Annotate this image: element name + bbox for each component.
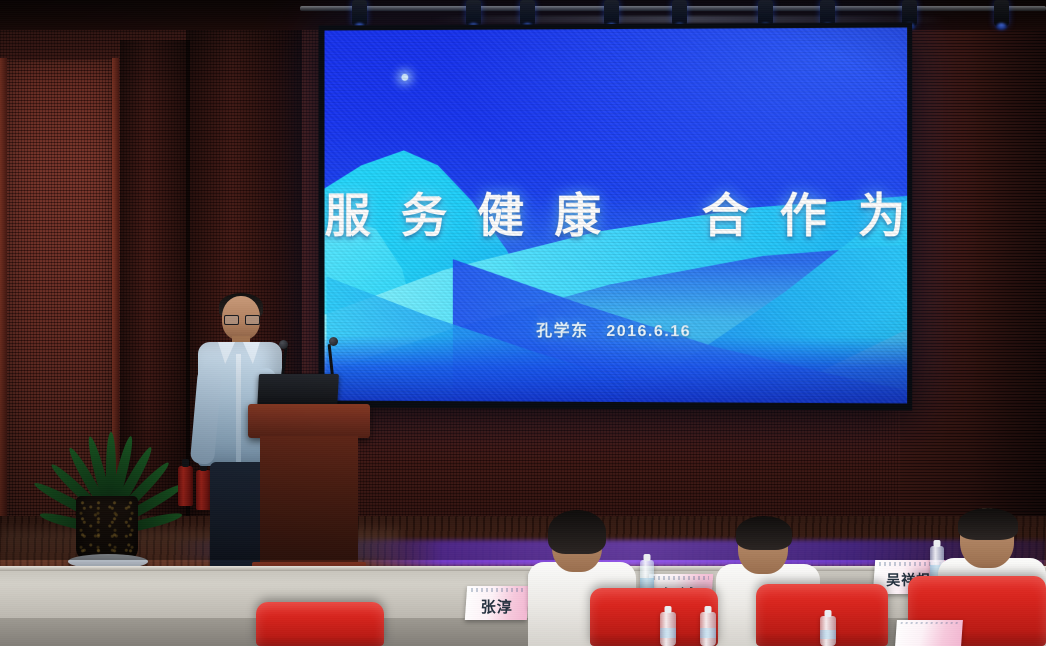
glasses-icon — [224, 315, 258, 323]
water-bottle — [820, 616, 836, 646]
fire-extinguisher — [178, 466, 193, 506]
audience-member-hair — [736, 516, 792, 550]
conference-photo-scene: 服 务 健 康 合 作 为 王 孔学东 2016.6.16 — [0, 0, 1046, 646]
stage-spotlight — [466, 0, 481, 27]
stage-spotlight — [994, 0, 1009, 27]
name-card-subline — [901, 622, 959, 625]
desk-front-panel — [0, 618, 1046, 646]
plant-pot-pattern — [79, 499, 135, 559]
presenter-shirt-placket — [236, 354, 241, 462]
right-wall-texture — [900, 0, 1046, 560]
screen-scanlines — [325, 27, 908, 403]
plant-pot — [76, 496, 138, 562]
microphone-head — [329, 337, 338, 346]
name-card-subline — [653, 576, 709, 579]
screen-display-area: 服 务 健 康 合 作 为 王 孔学东 2016.6.16 — [325, 27, 908, 403]
audience-seat — [590, 588, 718, 646]
stage-spotlight — [352, 0, 367, 27]
audience-seat — [256, 602, 384, 646]
left-panel-edge — [0, 58, 7, 532]
stage-spotlight — [520, 0, 535, 27]
audience-member-hair — [548, 510, 606, 554]
name-card: 张淳 — [465, 586, 529, 620]
name-card — [895, 620, 963, 646]
name-card-text: 张淳 — [466, 596, 528, 617]
water-bottle — [700, 612, 716, 646]
stage-spotlight — [604, 0, 619, 27]
led-screen: 服 务 健 康 合 作 为 王 孔学东 2016.6.16 — [319, 22, 913, 410]
name-card-subline — [471, 588, 525, 591]
podium-top-surface — [248, 404, 370, 438]
right-wall — [900, 0, 1046, 560]
audience-member-hair — [958, 508, 1018, 540]
podium — [248, 404, 370, 586]
potted-plant — [46, 368, 176, 564]
microphone-head — [279, 340, 288, 349]
water-bottle — [660, 612, 676, 646]
podium-body — [260, 436, 358, 566]
